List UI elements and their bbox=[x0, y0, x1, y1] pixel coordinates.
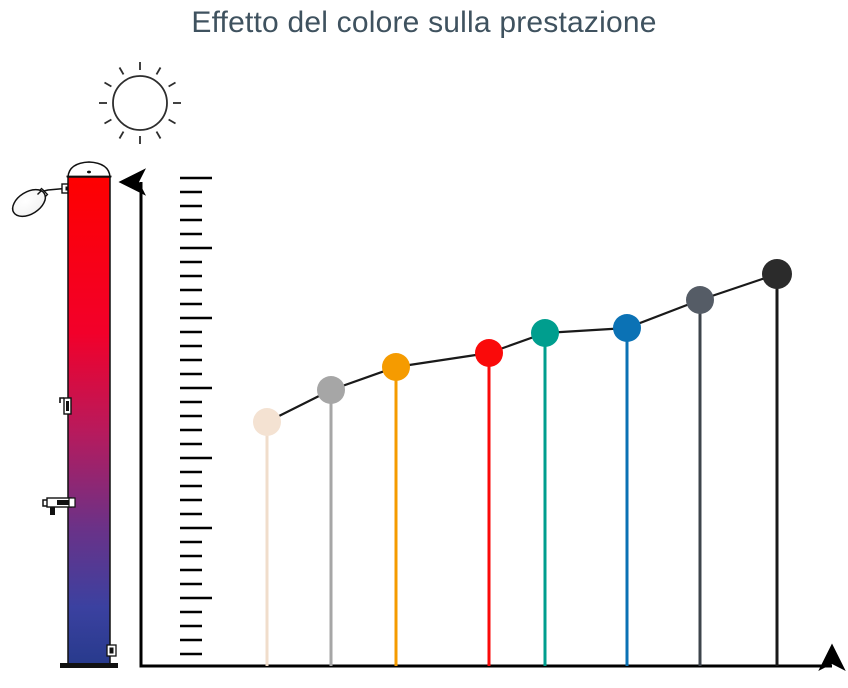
illustration-svg bbox=[0, 0, 848, 688]
data-point-verde[interactable] bbox=[531, 319, 559, 347]
data-point-antracite[interactable] bbox=[686, 286, 714, 314]
tower-body bbox=[68, 176, 110, 666]
figure-canvas: Effetto del colore sulla prestazione bbox=[0, 0, 848, 688]
data-point-grigio[interactable] bbox=[317, 376, 345, 404]
data-point-bianco[interactable] bbox=[253, 408, 281, 436]
upper-valve-icon bbox=[60, 398, 71, 414]
data-point-arancione[interactable] bbox=[382, 353, 410, 381]
data-points bbox=[253, 259, 792, 436]
sun-icon bbox=[99, 62, 181, 144]
data-point-nero[interactable] bbox=[762, 259, 792, 289]
tower-cap-icon bbox=[67, 162, 112, 177]
tower-base-plate bbox=[60, 663, 118, 668]
thermometer-scale bbox=[180, 178, 212, 654]
data-stems bbox=[267, 274, 777, 666]
data-point-blu[interactable] bbox=[613, 314, 641, 342]
chart-axes bbox=[140, 182, 833, 666]
data-point-rosso[interactable] bbox=[475, 339, 503, 367]
lower-fitting-icon bbox=[107, 645, 116, 656]
shower-tower bbox=[8, 162, 118, 668]
